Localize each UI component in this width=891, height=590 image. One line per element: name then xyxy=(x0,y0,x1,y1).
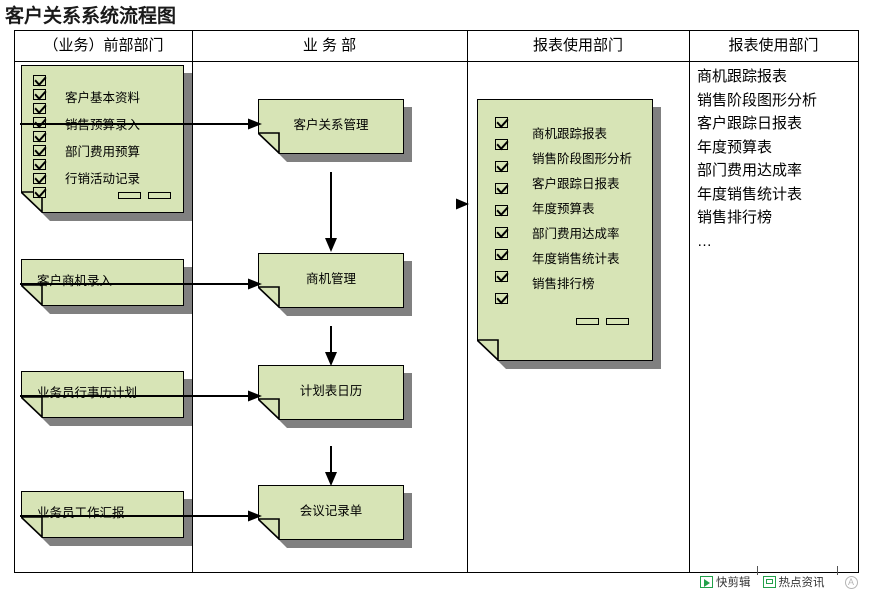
check-icon[interactable] xyxy=(495,161,508,172)
check-icon[interactable] xyxy=(495,139,508,150)
report-users-item: 销售排行榜 xyxy=(697,206,817,230)
arrow-into-report-users xyxy=(670,198,690,210)
front-input-document[interactable]: 客户基本资料 销售预算录入 部门费用预算 行销活动记录 xyxy=(21,65,184,213)
doc-button[interactable] xyxy=(576,318,599,325)
check-icon[interactable] xyxy=(33,187,46,198)
arrow-opportunity-mgmt-to-plan-calendar xyxy=(324,326,338,366)
report-output-item: 销售排行榜 xyxy=(532,273,595,292)
check-icon[interactable] xyxy=(495,249,508,260)
front-checkbox-column xyxy=(33,75,46,201)
business-box-meeting-record[interactable]: 会议记录单 xyxy=(258,485,404,540)
doc-button[interactable] xyxy=(606,318,629,325)
business-box-opportunity-mgmt[interactable]: 商机管理 xyxy=(258,253,404,308)
column-header-front-dept: （业务）前部部门 xyxy=(15,31,192,61)
front-input-content: 客户基本资料 销售预算录入 部门费用预算 行销活动记录 xyxy=(21,65,184,213)
report-output-item: 部门费用达成率 xyxy=(532,223,620,242)
check-icon[interactable] xyxy=(33,103,46,114)
business-box-plan-calendar[interactable]: 计划表日历 xyxy=(258,365,404,420)
business-box-label: 商机管理 xyxy=(258,268,404,287)
arrow-front-input-to-crm xyxy=(20,118,262,130)
arrow-work-report-to-meeting-record xyxy=(20,510,262,522)
arrow-crm-to-opportunity-mgmt xyxy=(324,172,338,252)
report-output-content: 商机跟踪报表 销售阶段图形分析 客户跟踪日报表 年度预算表 部门费用达成率 年度… xyxy=(477,99,653,361)
check-icon[interactable] xyxy=(33,89,46,100)
business-box-label: 计划表日历 xyxy=(258,380,404,399)
report-users-list: 商机跟踪报表 销售阶段图形分析 客户跟踪日报表 年度预算表 部门费用达成率 年度… xyxy=(697,65,817,253)
check-icon[interactable] xyxy=(33,145,46,156)
play-icon xyxy=(700,576,713,588)
status-item-label: 热点资讯 xyxy=(779,574,825,590)
column-divider-3 xyxy=(689,31,690,572)
status-bar: 快剪辑 热点资讯 A xyxy=(700,574,858,590)
report-output-item: 客户跟踪日报表 xyxy=(532,173,620,192)
swimlane-table: （业务）前部部门 业 务 部 报表使用部门 报表使用部门 客户基本资料 销售预算… xyxy=(14,30,859,573)
check-icon[interactable] xyxy=(495,227,508,238)
doc-button[interactable] xyxy=(118,192,141,199)
column-divider-1 xyxy=(192,31,193,572)
column-header-report-dept: 报表使用部门 xyxy=(467,31,689,61)
circle-a-icon[interactable]: A xyxy=(845,576,858,589)
business-box-label: 会议记录单 xyxy=(258,500,404,519)
front-input-item: 部门费用预算 xyxy=(65,141,140,160)
arrow-crm-to-report-output xyxy=(330,118,476,130)
status-item-hot-news[interactable]: 热点资讯 xyxy=(763,574,825,590)
column-header-report-users: 报表使用部门 xyxy=(689,31,858,61)
report-users-item: 商机跟踪报表 xyxy=(697,65,817,89)
page-title: 客户关系系统流程图 xyxy=(5,1,176,28)
report-users-item: 销售阶段图形分析 xyxy=(697,89,817,113)
report-users-item: 年度销售统计表 xyxy=(697,183,817,207)
report-users-item: … xyxy=(697,230,817,254)
arrow-opportunity-entry-to-mgmt xyxy=(20,278,262,290)
check-icon[interactable] xyxy=(495,293,508,304)
report-users-item: 年度预算表 xyxy=(697,136,817,160)
status-item-quick-clip[interactable]: 快剪辑 xyxy=(700,574,751,590)
report-output-document[interactable]: 商机跟踪报表 销售阶段图形分析 客户跟踪日报表 年度预算表 部门费用达成率 年度… xyxy=(477,99,653,361)
header-rule xyxy=(15,61,858,62)
front-input-buttons xyxy=(118,192,171,199)
report-users-item: 客户跟踪日报表 xyxy=(697,112,817,136)
check-icon[interactable] xyxy=(495,117,508,128)
check-icon[interactable] xyxy=(33,131,46,142)
check-icon[interactable] xyxy=(495,205,508,216)
report-users-item: 部门费用达成率 xyxy=(697,159,817,183)
front-input-item: 行销活动记录 xyxy=(65,168,140,187)
check-icon[interactable] xyxy=(495,183,508,194)
doc-button[interactable] xyxy=(148,192,171,199)
report-output-buttons xyxy=(576,318,629,325)
front-input-item: 客户基本资料 xyxy=(65,87,140,106)
check-icon[interactable] xyxy=(33,159,46,170)
arrow-calendar-plan-to-plan-calendar xyxy=(20,390,262,402)
check-icon[interactable] xyxy=(33,173,46,184)
report-output-item: 年度销售统计表 xyxy=(532,248,620,267)
report-output-item: 销售阶段图形分析 xyxy=(532,148,632,167)
check-icon[interactable] xyxy=(33,75,46,86)
report-checkbox-column xyxy=(495,117,508,315)
check-icon[interactable] xyxy=(495,271,508,282)
arrow-into-report-output xyxy=(456,198,480,210)
column-divider-2 xyxy=(467,31,468,572)
report-output-item: 年度预算表 xyxy=(532,198,595,217)
monitor-icon xyxy=(763,576,776,588)
column-header-business-dept: 业 务 部 xyxy=(192,31,467,61)
report-output-item: 商机跟踪报表 xyxy=(532,123,607,142)
arrow-plan-calendar-to-meeting-record xyxy=(324,446,338,486)
status-item-label: 快剪辑 xyxy=(716,574,751,590)
